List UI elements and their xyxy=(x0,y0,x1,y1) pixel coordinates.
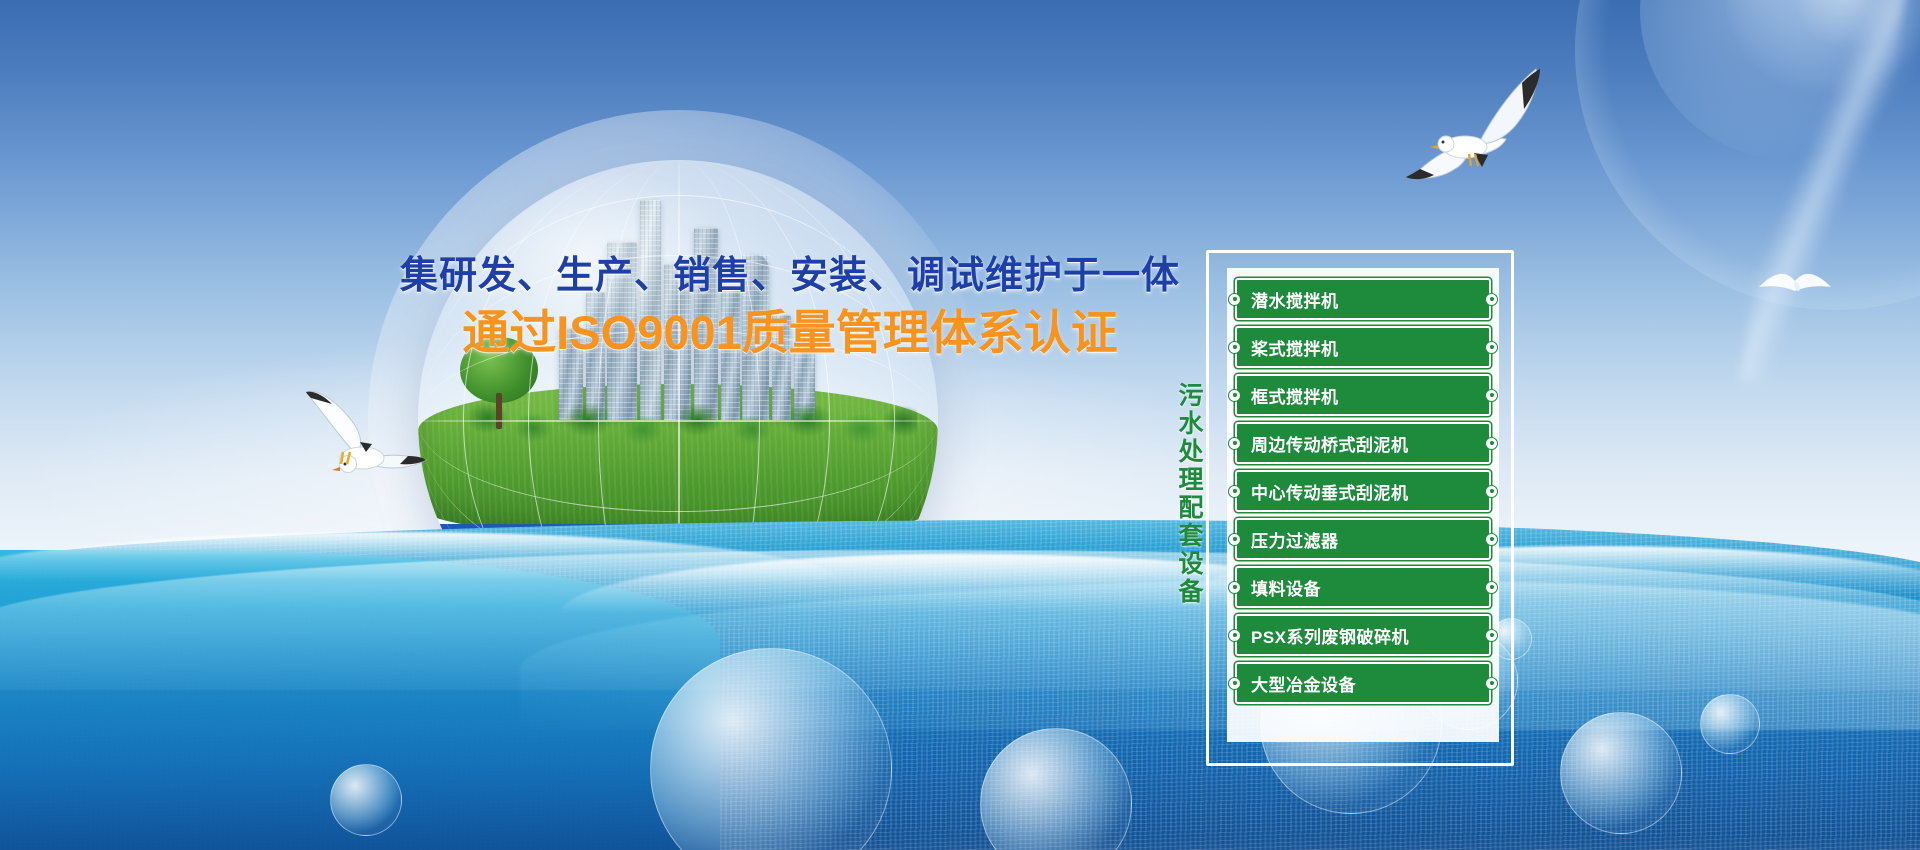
screw-right-icon xyxy=(1485,485,1498,498)
product-panel-vertical-title: 污水处理配套设备 xyxy=(1168,382,1202,606)
screw-right-icon xyxy=(1485,533,1498,546)
product-item-label: 桨式搅拌机 xyxy=(1237,335,1339,360)
water-bubble-5 xyxy=(1700,694,1760,754)
headline-line-1: 集研发、生产、销售、安装、调试维护于一体 xyxy=(380,253,1200,301)
product-item-4[interactable]: 周边传动桥式刮泥机 xyxy=(1235,422,1491,464)
water-scene xyxy=(0,450,1920,850)
screw-left-icon xyxy=(1228,341,1241,354)
water-bubble-6 xyxy=(330,764,402,836)
screw-left-icon xyxy=(1228,629,1241,642)
headline-block: 集研发、生产、销售、安装、调试维护于一体 通过ISO9001质量管理体系认证 xyxy=(380,253,1200,361)
light-streak-icon xyxy=(1741,0,1910,396)
product-item-label: 大型冶金设备 xyxy=(1237,671,1356,696)
product-item-8[interactable]: PSX系列废钢破碎机 xyxy=(1235,614,1491,656)
product-item-9[interactable]: 大型冶金设备 xyxy=(1235,662,1491,704)
product-item-label: 填料设备 xyxy=(1237,575,1321,600)
screw-right-icon xyxy=(1485,677,1498,690)
screw-left-icon xyxy=(1228,533,1241,546)
product-list: 潜水搅拌机 桨式搅拌机 框式搅拌机 周边传动桥式刮泥机 中心传动垂式刮泥 xyxy=(1235,278,1491,704)
product-panel: 潜水搅拌机 桨式搅拌机 框式搅拌机 周边传动桥式刮泥机 中心传动垂式刮泥 xyxy=(1227,268,1499,742)
product-item-label: 周边传动桥式刮泥机 xyxy=(1237,431,1409,456)
water-bubble-3 xyxy=(1560,712,1682,834)
product-item-label: PSX系列废钢破碎机 xyxy=(1237,623,1409,648)
screw-right-icon xyxy=(1485,389,1498,402)
screw-left-icon xyxy=(1228,485,1241,498)
product-item-5[interactable]: 中心传动垂式刮泥机 xyxy=(1235,470,1491,512)
screw-right-icon xyxy=(1485,581,1498,594)
product-item-label: 框式搅拌机 xyxy=(1237,383,1339,408)
screw-left-icon xyxy=(1228,293,1241,306)
screw-left-icon xyxy=(1228,437,1241,450)
product-item-6[interactable]: 压力过滤器 xyxy=(1235,518,1491,560)
screw-right-icon xyxy=(1485,293,1498,306)
product-item-2[interactable]: 桨式搅拌机 xyxy=(1235,326,1491,368)
seagull-large-right-icon xyxy=(1370,55,1560,205)
screw-right-icon xyxy=(1485,341,1498,354)
screw-right-icon xyxy=(1485,437,1498,450)
product-item-label: 潜水搅拌机 xyxy=(1237,287,1339,312)
headline-line-2: 通过ISO9001质量管理体系认证 xyxy=(380,305,1200,361)
promo-banner: 集研发、生产、销售、安装、调试维护于一体 通过ISO9001质量管理体系认证 污… xyxy=(0,0,1920,850)
product-item-3[interactable]: 框式搅拌机 xyxy=(1235,374,1491,416)
product-item-7[interactable]: 填料设备 xyxy=(1235,566,1491,608)
product-item-label: 压力过滤器 xyxy=(1237,527,1339,552)
screw-left-icon xyxy=(1228,677,1241,690)
product-item-1[interactable]: 潜水搅拌机 xyxy=(1235,278,1491,320)
screw-left-icon xyxy=(1228,389,1241,402)
screw-left-icon xyxy=(1228,581,1241,594)
screw-right-icon xyxy=(1485,629,1498,642)
product-item-label: 中心传动垂式刮泥机 xyxy=(1237,479,1409,504)
